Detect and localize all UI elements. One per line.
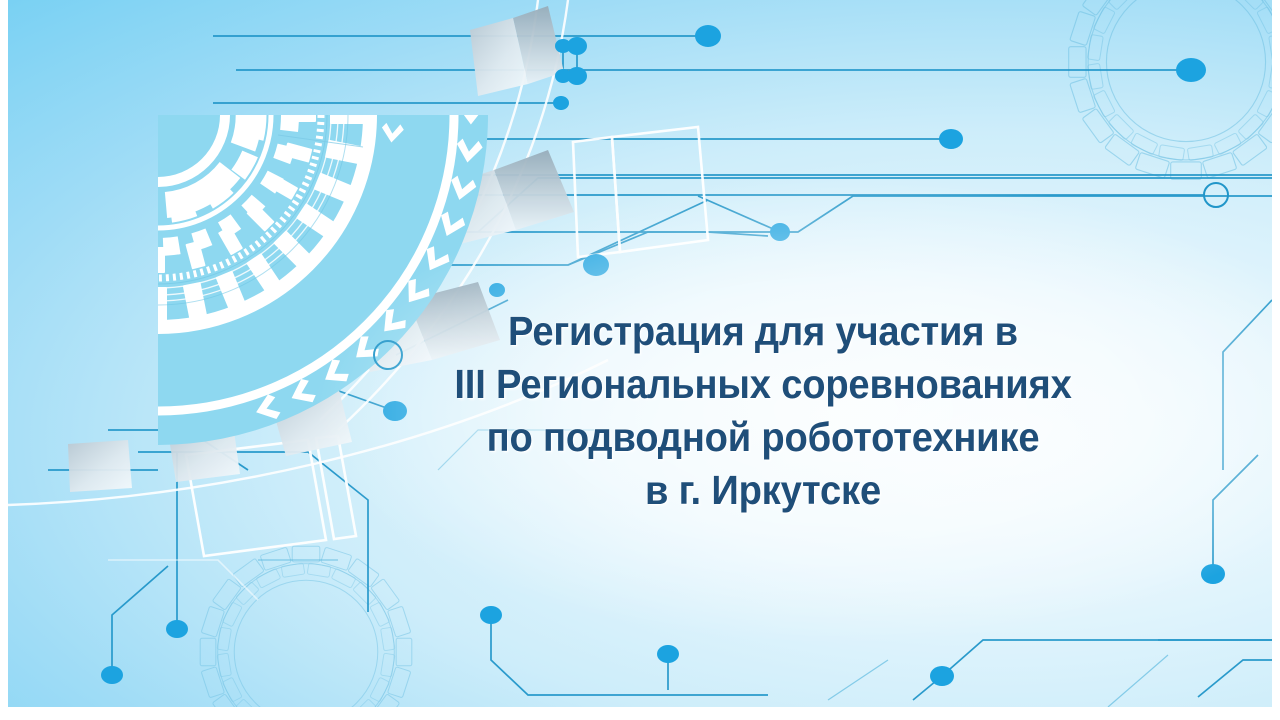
slide-canvas: Регистрация для участия в III Региональн…	[8, 0, 1272, 707]
presentation-slide: Регистрация для участия в III Региональн…	[0, 0, 1280, 720]
light-wash-overlay	[8, 0, 1272, 707]
